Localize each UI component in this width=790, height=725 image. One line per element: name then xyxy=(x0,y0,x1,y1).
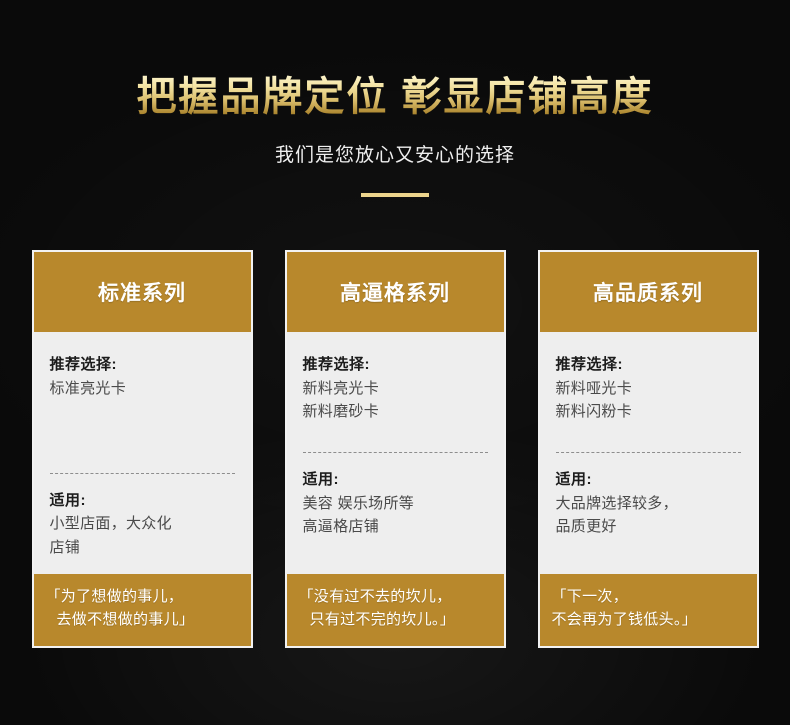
page-header: 把握品牌定位 彰显店铺高度 我们是您放心又安心的选择 xyxy=(0,0,790,197)
usage-section: 适用: 小型店面，大众化 店铺 xyxy=(50,490,235,559)
page-subtitle: 我们是您放心又安心的选择 xyxy=(0,140,790,167)
card-title: 高逼格系列 xyxy=(340,277,450,307)
recommend-label: 推荐选择: xyxy=(50,354,235,377)
usage-item: 小型店面，大众化 xyxy=(50,512,235,535)
usage-label: 适用: xyxy=(556,469,741,492)
recommend-spacer xyxy=(50,420,235,458)
quote-line: 不会再为了钱低头。」 xyxy=(552,608,745,631)
quote-line: 「没有过不去的坎儿， xyxy=(299,585,492,608)
body-spacer xyxy=(50,559,235,574)
recommend-spacer xyxy=(556,423,741,437)
recommend-item: 新料闪粉卡 xyxy=(556,400,741,423)
quote-line: 「下一次， xyxy=(552,585,745,608)
page-title: 把握品牌定位 彰显店铺高度 xyxy=(136,74,653,120)
card-quote: 「没有过不去的坎儿， 只有过不完的坎儿。」 xyxy=(287,574,504,646)
recommend-item: 新料哑光卡 xyxy=(556,377,741,400)
series-card[interactable]: 高逼格系列 推荐选择: 新料亮光卡 新料磨砂卡 适用: 美容 娱乐场所等 高逼格… xyxy=(285,250,506,648)
usage-item: 美容 娱乐场所等 xyxy=(303,492,488,515)
card-body: 推荐选择: 新料亮光卡 新料磨砂卡 适用: 美容 娱乐场所等 高逼格店铺 xyxy=(287,332,504,574)
usage-label: 适用: xyxy=(50,490,235,513)
series-card[interactable]: 高品质系列 推荐选择: 新料哑光卡 新料闪粉卡 适用: 大品牌选择较多， 品质更… xyxy=(538,250,759,648)
recommend-section: 推荐选择: 新料亮光卡 新料磨砂卡 xyxy=(303,354,488,423)
usage-section: 适用: 美容 娱乐场所等 高逼格店铺 xyxy=(303,469,488,538)
recommend-label: 推荐选择: xyxy=(303,354,488,377)
series-card[interactable]: 标准系列 推荐选择: 标准亮光卡 适用: 小型店面，大众化 店铺 「为了想做的事… xyxy=(32,250,253,648)
card-title: 高品质系列 xyxy=(593,277,703,307)
usage-label: 适用: xyxy=(303,469,488,492)
recommend-item: 新料磨砂卡 xyxy=(303,400,488,423)
quote-line: 去做不想做的事儿」 xyxy=(46,608,239,631)
section-divider xyxy=(50,473,235,474)
body-spacer xyxy=(556,538,741,574)
promo-page: 把握品牌定位 彰显店铺高度 我们是您放心又安心的选择 标准系列 推荐选择: 标准… xyxy=(0,0,790,725)
usage-item: 店铺 xyxy=(50,536,235,559)
body-spacer xyxy=(303,538,488,574)
recommend-item: 新料亮光卡 xyxy=(303,377,488,400)
recommend-label: 推荐选择: xyxy=(556,354,741,377)
section-divider xyxy=(556,452,741,453)
series-card-list: 标准系列 推荐选择: 标准亮光卡 适用: 小型店面，大众化 店铺 「为了想做的事… xyxy=(0,250,790,648)
usage-item: 大品牌选择较多， xyxy=(556,492,741,515)
section-divider xyxy=(303,452,488,453)
card-quote: 「下一次， 不会再为了钱低头。」 xyxy=(540,574,757,646)
card-title: 标准系列 xyxy=(98,277,186,307)
usage-item: 高逼格店铺 xyxy=(303,515,488,538)
card-header: 高品质系列 xyxy=(540,252,757,332)
card-body: 推荐选择: 标准亮光卡 适用: 小型店面，大众化 店铺 xyxy=(34,332,251,574)
recommend-section: 推荐选择: 标准亮光卡 xyxy=(50,354,235,400)
usage-item: 品质更好 xyxy=(556,515,741,538)
quote-line: 只有过不完的坎儿。」 xyxy=(299,608,492,631)
card-quote: 「为了想做的事儿， 去做不想做的事儿」 xyxy=(34,574,251,646)
title-divider xyxy=(361,193,429,197)
card-body: 推荐选择: 新料哑光卡 新料闪粉卡 适用: 大品牌选择较多， 品质更好 xyxy=(540,332,757,574)
recommend-spacer xyxy=(303,423,488,437)
card-header: 标准系列 xyxy=(34,252,251,332)
usage-section: 适用: 大品牌选择较多， 品质更好 xyxy=(556,469,741,538)
recommend-item: 标准亮光卡 xyxy=(50,377,235,400)
quote-line: 「为了想做的事儿， xyxy=(46,585,239,608)
card-header: 高逼格系列 xyxy=(287,252,504,332)
recommend-section: 推荐选择: 新料哑光卡 新料闪粉卡 xyxy=(556,354,741,423)
